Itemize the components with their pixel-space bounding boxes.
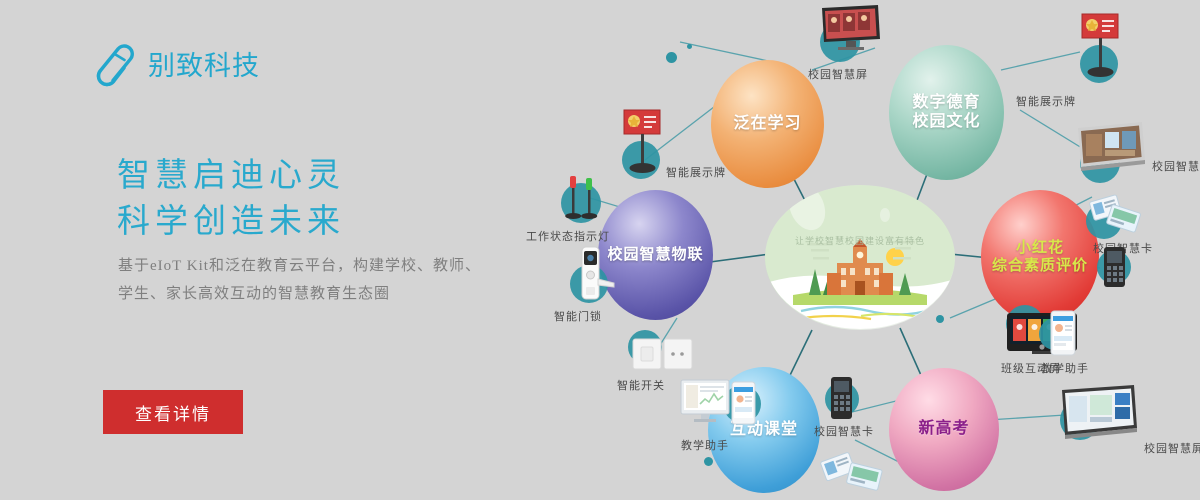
satellite-label: 校园智慧屏 — [1144, 440, 1200, 456]
satellite-label: 工作状态指示灯 — [526, 228, 610, 244]
left-content-panel: 别致科技 智慧启迪心灵 科学创造未来 基于eIoT Kit和泛在教育云平台，构建… — [0, 0, 520, 500]
node-xingaokao-label: 新高考 — [918, 420, 969, 439]
brand-name: 别致科技 — [148, 53, 260, 80]
accent-dot — [666, 52, 677, 63]
satellite-label: 智能展示牌 — [666, 164, 726, 180]
brand-logo[interactable]: 别致科技 — [88, 40, 260, 92]
satellite-label: 校园智慧屏 — [808, 66, 868, 82]
headline-line-1: 智慧启迪心灵 — [117, 152, 345, 198]
satellite-label: 智能展示牌 — [1016, 93, 1076, 109]
ecosystem-diagram: 让学校智慧校园建设富有特色 泛在学习 数字德育校园文化 小红花综合素质评价 新高… — [520, 0, 1200, 500]
paperclip-icon — [88, 40, 134, 92]
node-xiaohonghua[interactable]: 小红花综合素质评价 — [981, 190, 1099, 323]
diagram-center-node[interactable]: 让学校智慧校园建设富有特色 — [765, 185, 955, 330]
subcopy-line-1: 基于eIoT Kit和泛在教育云平台，构建学校、教师、 — [118, 252, 518, 280]
subcopy: 基于eIoT Kit和泛在教育云平台，构建学校、教师、 学生、家长高效互动的智慧… — [118, 252, 518, 308]
satellite-label: 校园智慧屏 — [1152, 158, 1200, 174]
accent-dot — [704, 457, 713, 466]
satellite-label: 教学助手 — [1041, 360, 1089, 376]
satellite-label: 教学助手 — [681, 437, 729, 453]
satellite-label: 校园智慧卡 — [814, 423, 874, 439]
accent-dot — [687, 44, 692, 49]
headline-line-2: 科学创造未来 — [117, 198, 345, 244]
satellite-label: 智能开关 — [617, 377, 665, 393]
hero-banner: 别致科技 智慧启迪心灵 科学创造未来 基于eIoT Kit和泛在教育云平台，构建… — [0, 0, 1200, 500]
view-details-button[interactable]: 查看详情 — [103, 390, 243, 434]
node-deyu-label: 数字德育校园文化 — [912, 94, 980, 132]
node-wulian-label: 校园智慧物联 — [607, 246, 703, 264]
accent-dot — [936, 315, 944, 323]
subcopy-line-2: 学生、家长高效互动的智慧教育生态圈 — [118, 280, 518, 308]
node-xiaohonghua-label: 小红花综合素质评价 — [992, 239, 1088, 274]
headline: 智慧启迪心灵 科学创造未来 — [117, 152, 345, 244]
center-caption: 让学校智慧校园建设富有特色 — [765, 234, 955, 247]
node-fanzai-label: 泛在学习 — [733, 115, 801, 134]
node-xingaokao[interactable]: 新高考 — [889, 368, 999, 491]
node-shuzi-deyu[interactable]: 数字德育校园文化 — [889, 45, 1004, 180]
satellite-label: 智能门锁 — [554, 308, 602, 324]
